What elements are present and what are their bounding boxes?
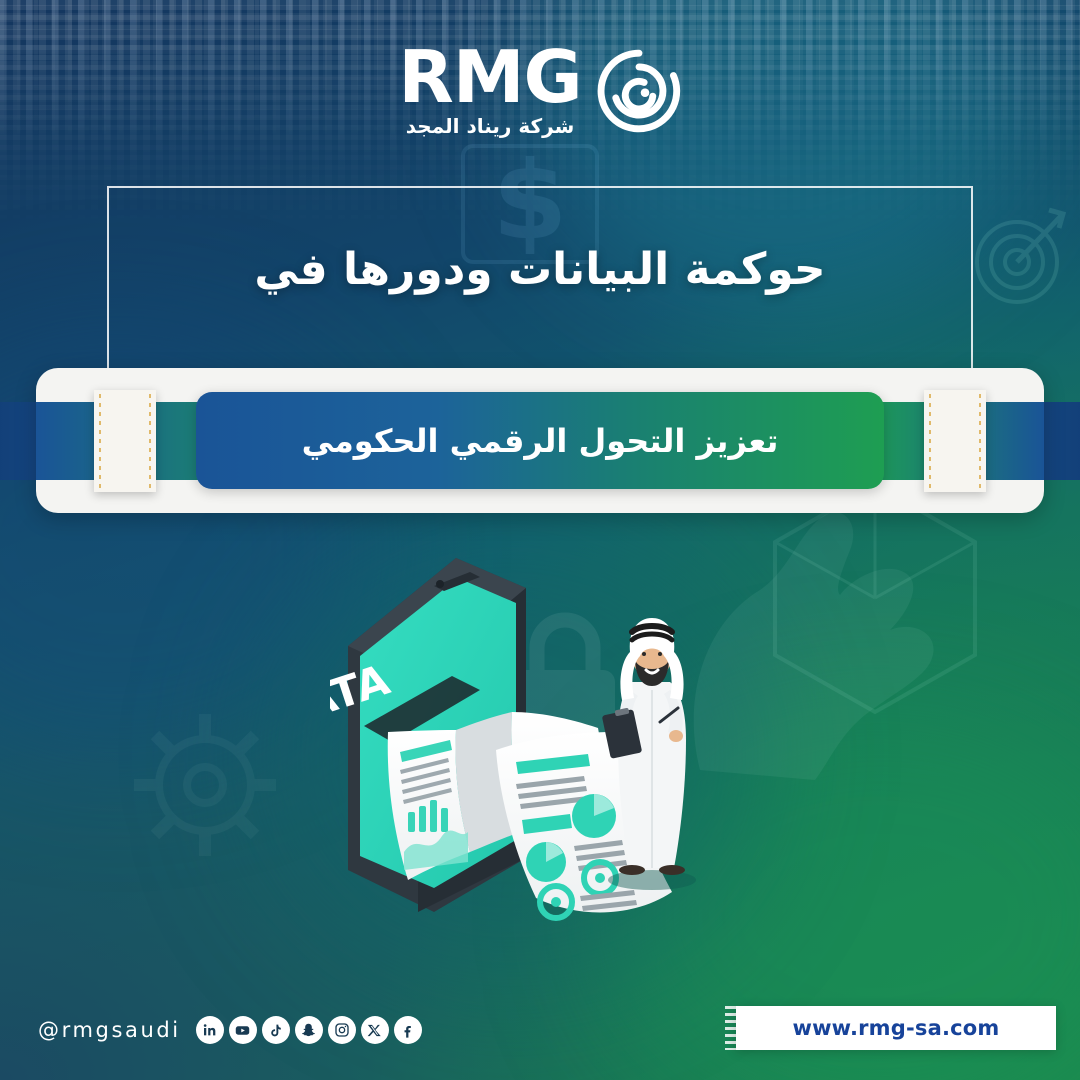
youtube-icon[interactable]	[229, 1016, 257, 1044]
footer: @rmgsaudi www.rmg-sa.com	[0, 960, 1080, 1080]
pie-chart	[526, 842, 566, 882]
subtitle-text: تعزيز التحول الرقمي الحكومي	[302, 422, 779, 460]
subtitle-pill: تعزيز التحول الرقمي الحكومي	[196, 392, 884, 489]
logo-arabic-name: شركة ريناد المجد	[406, 114, 575, 138]
snapchat-icon[interactable]	[295, 1016, 323, 1044]
data-report-illustration: DATA	[330, 540, 760, 960]
spiral-circle-logo-icon	[596, 48, 682, 134]
instagram-icon[interactable]	[328, 1016, 356, 1044]
page-title: حوكمة البيانات ودورها في	[107, 240, 973, 299]
tiktok-icon[interactable]	[262, 1016, 290, 1044]
website-card[interactable]: www.rmg-sa.com	[736, 1006, 1056, 1050]
ribbon-fold-right	[924, 390, 986, 492]
social-links: @rmgsaudi	[38, 1016, 422, 1044]
ribbon-fold-left	[94, 390, 156, 492]
perforation-strip	[725, 1006, 736, 1050]
brand-logo: RMG شركة ريناد المجد	[0, 44, 1080, 138]
target-icon	[965, 200, 1075, 310]
pie-chart	[572, 794, 616, 838]
x-twitter-icon[interactable]	[361, 1016, 389, 1044]
website-url: www.rmg-sa.com	[792, 1016, 999, 1040]
social-handle: @rmgsaudi	[38, 1018, 191, 1042]
subtitle-ribbon: تعزيز التحول الرقمي الحكومي	[0, 368, 1080, 513]
gear-icon	[120, 700, 290, 870]
logo-wordmark: RMG	[398, 44, 581, 110]
facebook-icon[interactable]	[394, 1016, 422, 1044]
social-post-canvas: $	[0, 0, 1080, 1080]
linkedin-icon[interactable]	[196, 1016, 224, 1044]
